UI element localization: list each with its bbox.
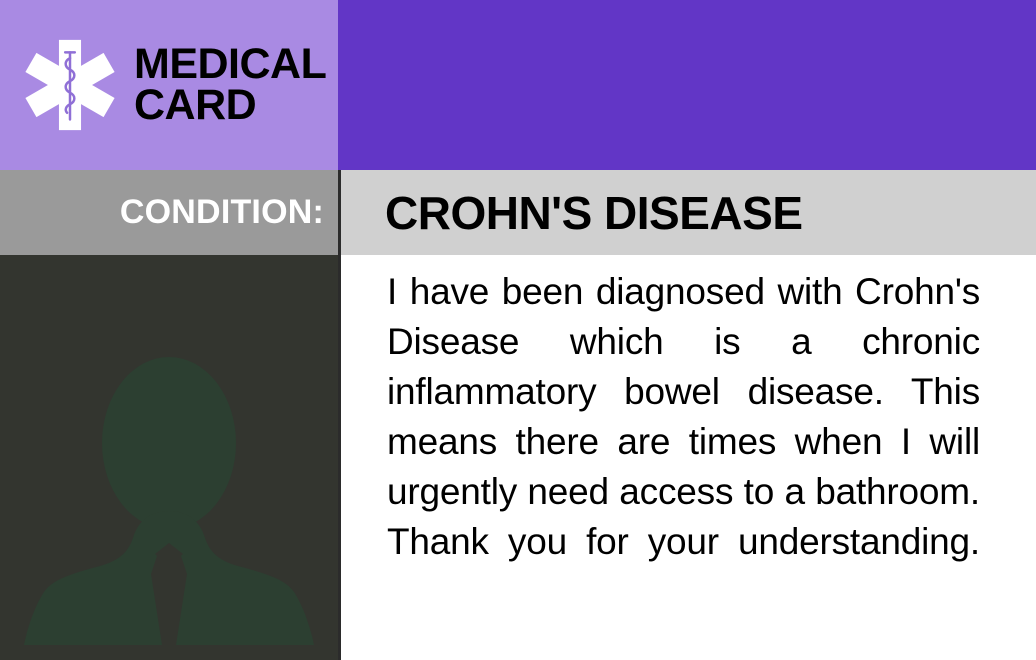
brand-title-line-2: CARD <box>134 85 326 126</box>
card-header: MEDICAL CARD <box>0 0 1036 170</box>
star-of-life-icon <box>22 37 118 133</box>
condition-bar: CONDITION: CROHN'S DISEASE <box>0 170 1036 255</box>
condition-value-cell: CROHN'S DISEASE <box>338 170 1036 255</box>
condition-label: CONDITION: <box>120 193 324 232</box>
brand-panel: MEDICAL CARD <box>0 0 338 170</box>
condition-label-cell: CONDITION: <box>0 170 338 255</box>
condition-value: CROHN'S DISEASE <box>385 186 803 240</box>
header-accent-block <box>338 0 1036 170</box>
card-body: I have been diagnosed with Crohn's Disea… <box>0 255 1036 660</box>
person-silhouette-icon <box>0 295 338 660</box>
photo-panel <box>0 255 338 660</box>
message-panel: I have been diagnosed with Crohn's Disea… <box>338 255 1036 660</box>
brand-title-line-1: MEDICAL <box>134 44 326 85</box>
brand-title: MEDICAL CARD <box>134 44 326 127</box>
condition-message: I have been diagnosed with Crohn's Disea… <box>387 267 980 567</box>
medical-card: MEDICAL CARD CONDITION: CROHN'S DISEASE <box>0 0 1036 660</box>
